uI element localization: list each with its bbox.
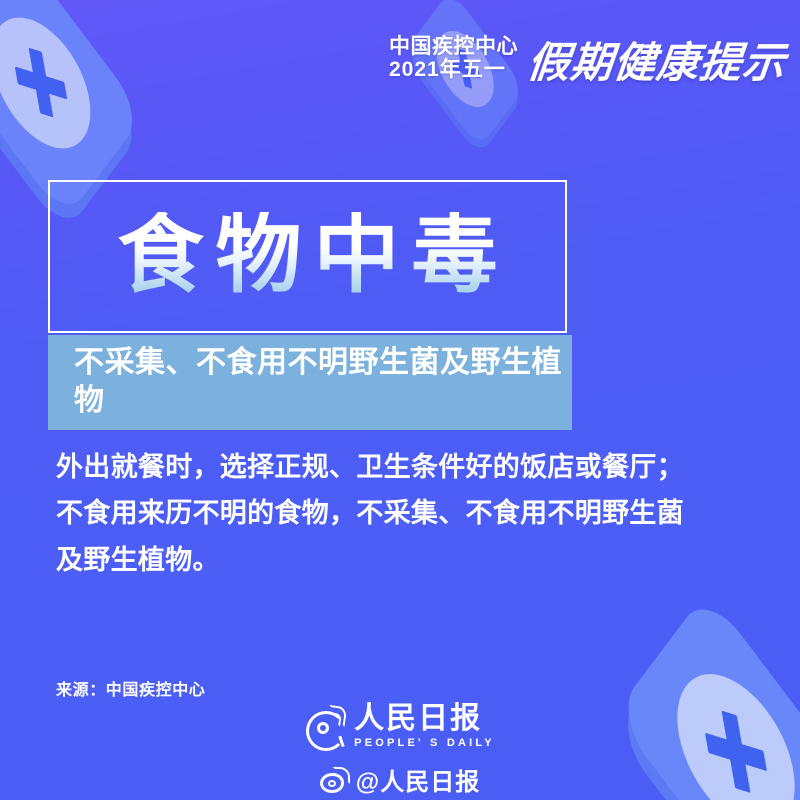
campaign-title: 假期健康提示 xyxy=(525,29,795,90)
page-title: 食物中毒 xyxy=(106,212,510,302)
poster-header: 中国疾控中心 2021年五一 假期健康提示 xyxy=(0,0,800,118)
subtitle-band: 不采集、不食用不明野生菌及野生植物 xyxy=(48,335,572,430)
body-text: 外出就餐时，选择正规、卫生条件好的饭店或餐厅；不食用来历不明的食物，不采集、不食… xyxy=(56,444,692,583)
campaign-period: 2021年五一 xyxy=(389,59,518,81)
peoples-daily-logo: 人民日报 PEOPLE' S DAILY xyxy=(0,704,800,749)
health-tip-poster: 中国疾控中心 2021年五一 假期健康提示 食物中毒 不采集、不食用不明野生菌及… xyxy=(0,0,800,800)
weibo-icon xyxy=(320,767,350,793)
source-credit: 来源：中国疾控中心 xyxy=(56,676,205,700)
page-subtitle: 不采集、不食用不明野生菌及野生植物 xyxy=(74,344,572,420)
logo-name-cn: 人民日报 xyxy=(354,704,495,734)
organization-name: 中国疾控中心 xyxy=(389,36,518,58)
weibo-handle: @人民日报 xyxy=(356,762,480,797)
organization-block: 中国疾控中心 2021年五一 xyxy=(389,36,518,83)
weibo-handle-row: @人民日报 xyxy=(0,762,800,797)
logo-name-en: PEOPLE' S DAILY xyxy=(354,738,495,749)
at-sign-icon xyxy=(305,706,347,748)
page-title-box: 食物中毒 xyxy=(48,180,567,333)
